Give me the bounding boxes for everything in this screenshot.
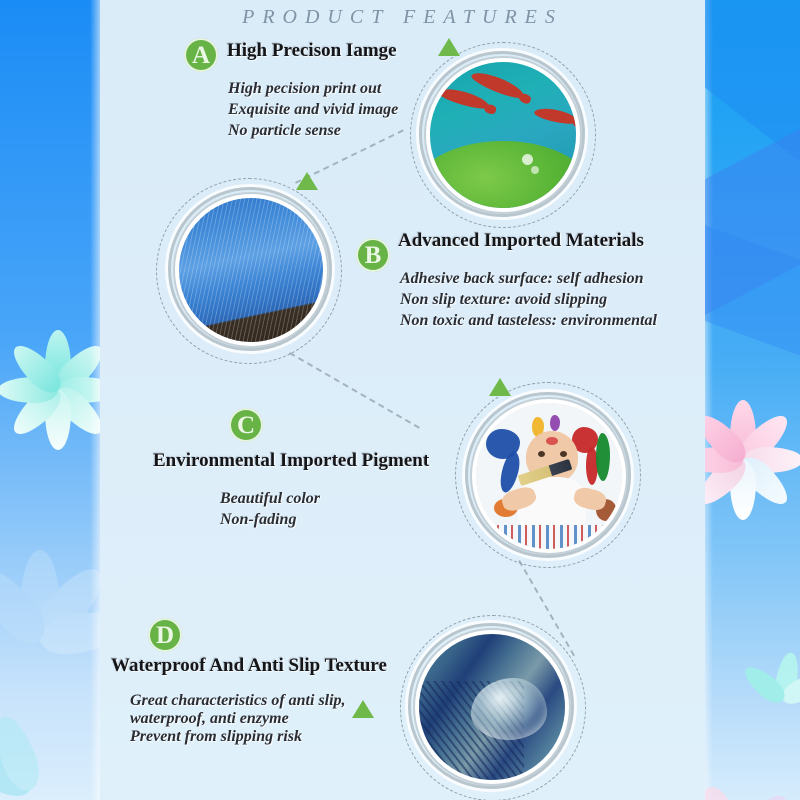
photo-circle-d bbox=[400, 615, 586, 800]
water-droplet-texture-photo bbox=[419, 634, 565, 780]
feature-desc-b-line-1: Adhesive back surface: self adhesion bbox=[400, 268, 644, 289]
feature-desc-a-line-2: Exquisite and vivid image bbox=[228, 99, 398, 120]
feature-heading-b: Advanced Imported Materials bbox=[398, 230, 644, 252]
feature-desc-b-line-3: Non toxic and tasteless: environmental bbox=[400, 310, 657, 331]
feature-heading-d: Waterproof And Anti Slip Texture bbox=[111, 655, 387, 677]
photo-circle-c bbox=[455, 382, 641, 568]
feature-desc-d-line-3: Prevent from slipping risk bbox=[130, 726, 302, 747]
blue-fabric-texture-photo bbox=[179, 198, 323, 342]
right-decorative-border bbox=[705, 0, 800, 800]
badge-letter-c: C bbox=[229, 408, 263, 442]
left-decorative-border bbox=[0, 0, 100, 800]
baby-painting-photo bbox=[476, 403, 622, 549]
badge-letter-b: B bbox=[356, 238, 390, 272]
feature-desc-c-line-2: Non-fading bbox=[220, 509, 296, 530]
arrow-marker-a bbox=[438, 38, 460, 56]
badge-letter-d: D bbox=[148, 618, 182, 652]
page-title: PRODUCT FEATURES bbox=[100, 6, 705, 29]
arrow-marker-b bbox=[296, 172, 318, 190]
photo-circle-a bbox=[410, 42, 596, 228]
feature-desc-b-line-2: Non slip texture: avoid slipping bbox=[400, 289, 607, 310]
photo-circle-b bbox=[156, 178, 342, 364]
feature-heading-a: High Precison Iamge bbox=[227, 40, 397, 62]
badge-letter-a: A bbox=[184, 38, 218, 72]
feature-heading-c: Environmental Imported Pigment bbox=[153, 450, 429, 472]
feature-desc-c-line-1: Beautiful color bbox=[220, 488, 320, 509]
product-features-infographic: PRODUCT FEATURES A High Precison Iamge H… bbox=[0, 0, 800, 800]
feature-desc-a-line-1: High pecision print out bbox=[228, 78, 381, 99]
content-canvas: PRODUCT FEATURES A High Precison Iamge H… bbox=[100, 0, 705, 800]
arrow-marker-c bbox=[489, 378, 511, 396]
arrow-marker-d bbox=[352, 700, 374, 718]
feature-desc-a-line-3: No particle sense bbox=[228, 120, 341, 141]
connector-b-to-c bbox=[289, 352, 420, 429]
koi-fish-pond-photo bbox=[430, 62, 576, 208]
